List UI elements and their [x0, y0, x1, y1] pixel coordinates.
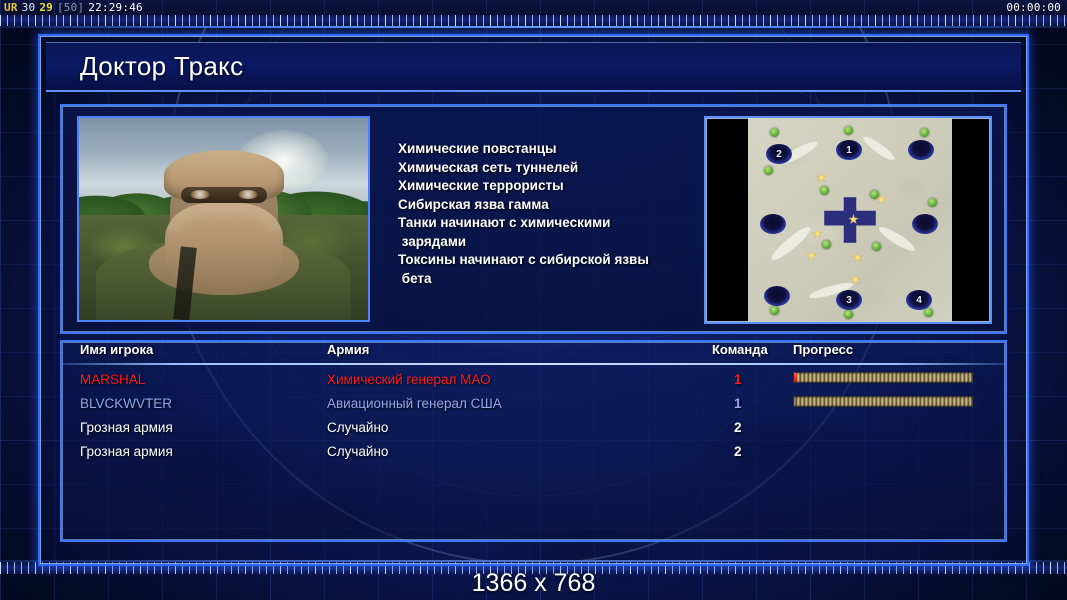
- map-tech-marker: [816, 172, 827, 183]
- map-supply-marker: [764, 166, 773, 175]
- column-header-name: Имя игрока: [80, 342, 153, 357]
- briefing-line: Токсины начинают с сибирской язвы: [398, 251, 698, 270]
- map-spawn-point: 1: [836, 140, 862, 160]
- player-team: 1: [734, 368, 742, 392]
- map-supply-marker: [870, 190, 879, 199]
- table-row[interactable]: BLVCKWVTERАвиационный генерал США1: [62, 392, 1005, 416]
- briefing-panel: Химические повстанцы Химическая сеть тун…: [60, 104, 1007, 334]
- status-clock: 00:00:00: [1006, 1, 1063, 14]
- player-army: Случайно: [327, 416, 388, 440]
- map-preview[interactable]: 2134: [704, 116, 992, 324]
- column-header-army: Армия: [327, 342, 369, 357]
- player-progress-bar: [793, 396, 973, 407]
- table-row[interactable]: MARSHALХимический генерал МАО1: [62, 368, 1005, 392]
- map-spawn-point: 3: [836, 290, 862, 310]
- player-name: Грозная армия: [80, 440, 173, 464]
- column-header-team: Команда: [712, 342, 768, 357]
- player-progress-bar: [793, 372, 973, 383]
- map-tech-marker: [806, 250, 817, 261]
- player-army: Случайно: [327, 440, 388, 464]
- map-spawn-point: 2: [766, 144, 792, 164]
- briefing-line: Химические повстанцы: [398, 140, 698, 159]
- map-supply-marker: [770, 128, 779, 137]
- column-header-progress: Прогресс: [793, 342, 853, 357]
- briefing-line: Сибирская язва гамма: [398, 196, 698, 215]
- status-value-1: 30: [22, 1, 36, 14]
- player-table-panel: Имя игрока Армия Команда Прогресс MARSHA…: [60, 340, 1007, 542]
- briefing-line: зарядами: [398, 233, 698, 252]
- map-supply-marker: [844, 126, 853, 135]
- title-bar: Доктор Тракс: [46, 42, 1021, 92]
- briefing-description: Химические повстанцы Химическая сеть тун…: [398, 140, 698, 288]
- map-supply-marker: [920, 128, 929, 137]
- commander-portrait: [77, 116, 370, 322]
- player-rows: MARSHALХимический генерал МАО1BLVCKWVTER…: [62, 368, 1005, 464]
- map-spawn-point: [764, 286, 790, 306]
- briefing-line: Химические террористы: [398, 177, 698, 196]
- map-spawn-point: [760, 214, 786, 234]
- player-team: 1: [734, 392, 742, 416]
- divider-top: [0, 26, 1067, 28]
- status-bracket-value: [50]: [57, 1, 84, 14]
- map-spawn-point: [908, 140, 934, 160]
- status-bar: UR 30 29 [50] 22:29:46 00:00:00: [0, 0, 1067, 15]
- map-center-feature: [824, 197, 876, 243]
- player-name: MARSHAL: [80, 368, 145, 392]
- player-team: 2: [734, 416, 742, 440]
- status-value-2: 29: [39, 1, 53, 14]
- briefing-line: бета: [398, 270, 698, 289]
- map-supply-marker: [770, 306, 779, 315]
- player-name: Грозная армия: [80, 416, 173, 440]
- table-header: Имя игрока Армия Команда Прогресс: [62, 342, 1005, 362]
- table-row[interactable]: Грозная армияСлучайно2: [62, 416, 1005, 440]
- page-title: Доктор Тракс: [46, 51, 243, 82]
- game-briefing-screen: UR 30 29 [50] 22:29:46 00:00:00 Доктор Т…: [0, 0, 1067, 600]
- map-tech-marker: [812, 228, 823, 239]
- map-supply-marker: [844, 310, 853, 319]
- map-supply-marker: [928, 198, 937, 207]
- player-name: BLVCKWVTER: [80, 392, 172, 416]
- briefing-line: Танки начинают с химическими: [398, 214, 698, 233]
- player-army: Химический генерал МАО: [327, 368, 491, 392]
- map-supply-marker: [820, 186, 829, 195]
- resolution-label: 1366 x 768: [0, 569, 1067, 598]
- map-spawn-point: [912, 214, 938, 234]
- status-timer: 22:29:46: [88, 1, 143, 14]
- player-army: Авиационный генерал США: [327, 392, 502, 416]
- briefing-line: Химическая сеть туннелей: [398, 159, 698, 178]
- table-row[interactable]: Грозная армияСлучайно2: [62, 440, 1005, 464]
- map-spawn-point: 4: [906, 290, 932, 310]
- progress-marker: [794, 373, 797, 382]
- status-tag: UR: [4, 1, 18, 14]
- map-tech-marker: [852, 252, 863, 263]
- ruler-strip-top: [0, 14, 1067, 26]
- player-team: 2: [734, 440, 742, 464]
- map-supply-marker: [872, 242, 881, 251]
- map-supply-marker: [822, 240, 831, 249]
- map-supply-marker: [924, 308, 933, 317]
